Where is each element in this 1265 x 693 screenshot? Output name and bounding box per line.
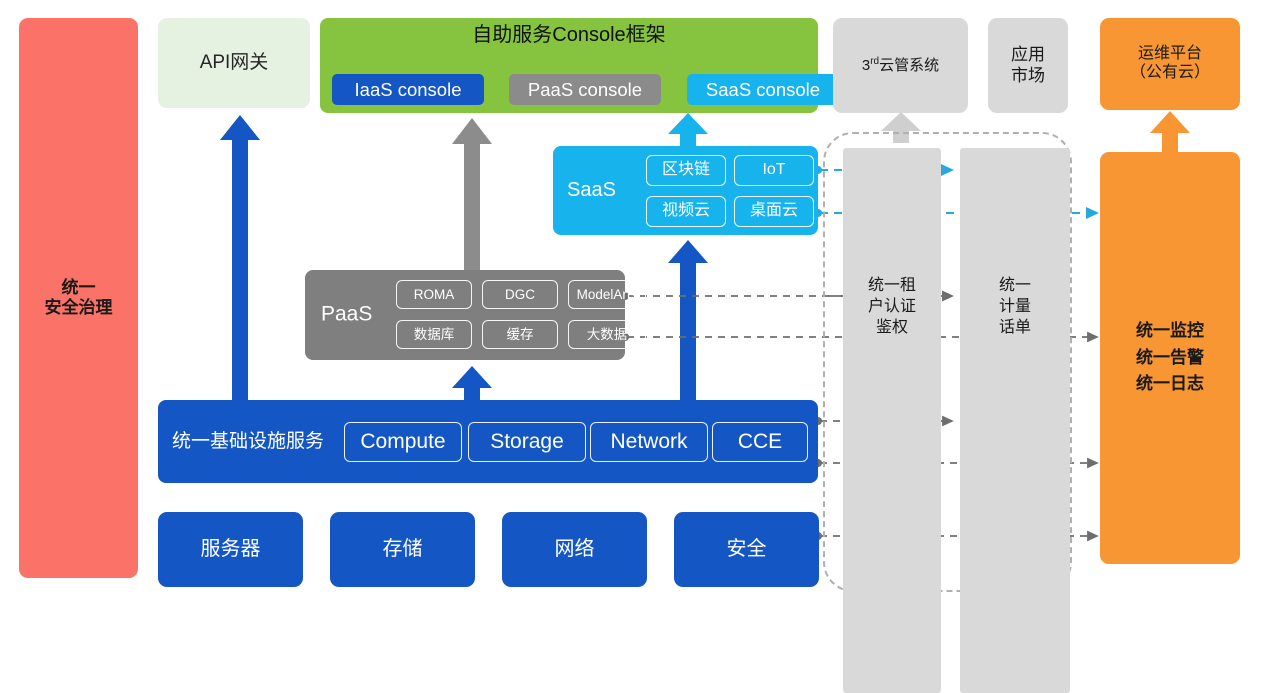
- unified-infrastructure-service-bar[interactable]: 统一基础设施服务 Compute Storage Network CCE: [158, 400, 818, 483]
- ops-capabilities-box[interactable]: 统一监控 统一告警 统一日志: [1100, 152, 1240, 564]
- third-party-superscript: rd: [870, 56, 879, 67]
- app-market-label: 应用 市场: [1011, 45, 1045, 85]
- api-gateway-box[interactable]: API网关: [158, 18, 310, 108]
- ops-capabilities-label: 统一监控 统一告警 统一日志: [1136, 318, 1204, 397]
- metering-label: 统一 计量 话单: [999, 276, 1031, 338]
- paas-tag-bigdata[interactable]: 大数据: [568, 320, 646, 349]
- resource-box-network[interactable]: 网络: [502, 512, 647, 587]
- arrow-opscap-to-opsplatform: [1150, 111, 1190, 153]
- saas-tag-iot[interactable]: IoT: [734, 155, 814, 186]
- arrow-infra-to-apigw: [220, 115, 260, 402]
- architecture-diagram: 统一 安全治理 API网关 自助服务Console框架 IaaS console…: [0, 0, 1265, 605]
- console-framework-title: 自助服务Console框架: [320, 24, 818, 48]
- arrow-paas-to-console: [452, 118, 492, 271]
- arrow-saas-to-saasconsole: [668, 113, 708, 148]
- third-party-cloud-management[interactable]: 3rd云管系统: [833, 18, 968, 113]
- paas-tag-roma[interactable]: ROMA: [396, 280, 472, 309]
- shared-service-auth-column[interactable]: 统一租 户认证 鉴权: [843, 148, 941, 693]
- governance-label: 统一 安全治理: [45, 278, 113, 318]
- paas-layer-box[interactable]: PaaS ROMA DGC ModelArts 数据库 缓存 大数据: [305, 270, 625, 360]
- saas-layer-box[interactable]: SaaS 区块链 IoT 视频云 桌面云: [553, 146, 818, 235]
- shared-service-metering-column[interactable]: 统一 计量 话单: [960, 148, 1070, 693]
- resource-label: 服务器: [201, 538, 261, 562]
- infrastructure-label: 统一基础设施服务: [172, 430, 324, 452]
- saas-console-chip[interactable]: SaaS console: [687, 74, 839, 105]
- resource-box-storage[interactable]: 存储: [330, 512, 475, 587]
- saas-tag-video-cloud[interactable]: 视频云: [646, 196, 726, 227]
- paas-tag-database[interactable]: 数据库: [396, 320, 472, 349]
- paas-console-chip[interactable]: PaaS console: [509, 74, 661, 105]
- unified-security-governance[interactable]: 统一 安全治理: [19, 18, 138, 578]
- arrow-infra-to-paas: [452, 366, 492, 402]
- api-gateway-label: API网关: [200, 52, 269, 74]
- saas-layer-label: SaaS: [567, 179, 616, 203]
- infra-tag-compute[interactable]: Compute: [344, 422, 462, 462]
- saas-tag-desktop-cloud[interactable]: 桌面云: [734, 196, 814, 227]
- infra-tag-storage[interactable]: Storage: [468, 422, 586, 462]
- paas-tag-cache[interactable]: 缓存: [482, 320, 558, 349]
- paas-layer-label: PaaS: [321, 303, 372, 328]
- resource-box-server[interactable]: 服务器: [158, 512, 303, 587]
- paas-tag-modelarts[interactable]: ModelArts: [568, 280, 646, 309]
- iaas-console-chip[interactable]: IaaS console: [332, 74, 484, 105]
- app-market-box[interactable]: 应用 市场: [988, 18, 1068, 113]
- infra-tag-cce[interactable]: CCE: [712, 422, 808, 462]
- self-service-console-framework[interactable]: 自助服务Console框架 IaaS console PaaS console …: [320, 18, 818, 113]
- third-party-label: 3rd云管系统: [862, 56, 939, 75]
- saas-tag-blockchain[interactable]: 区块链: [646, 155, 726, 186]
- infra-tag-network[interactable]: Network: [590, 422, 708, 462]
- paas-tag-dgc[interactable]: DGC: [482, 280, 558, 309]
- ops-platform-label: 运维平台 （公有云）: [1130, 45, 1210, 83]
- ops-platform-box[interactable]: 运维平台 （公有云）: [1100, 18, 1240, 110]
- resource-box-security[interactable]: 安全: [674, 512, 819, 587]
- auth-label: 统一租 户认证 鉴权: [868, 276, 916, 338]
- arrow-infra-to-saas: [668, 240, 708, 402]
- resource-label: 安全: [727, 538, 767, 562]
- resource-label: 存储: [383, 538, 423, 562]
- resource-label: 网络: [555, 538, 595, 562]
